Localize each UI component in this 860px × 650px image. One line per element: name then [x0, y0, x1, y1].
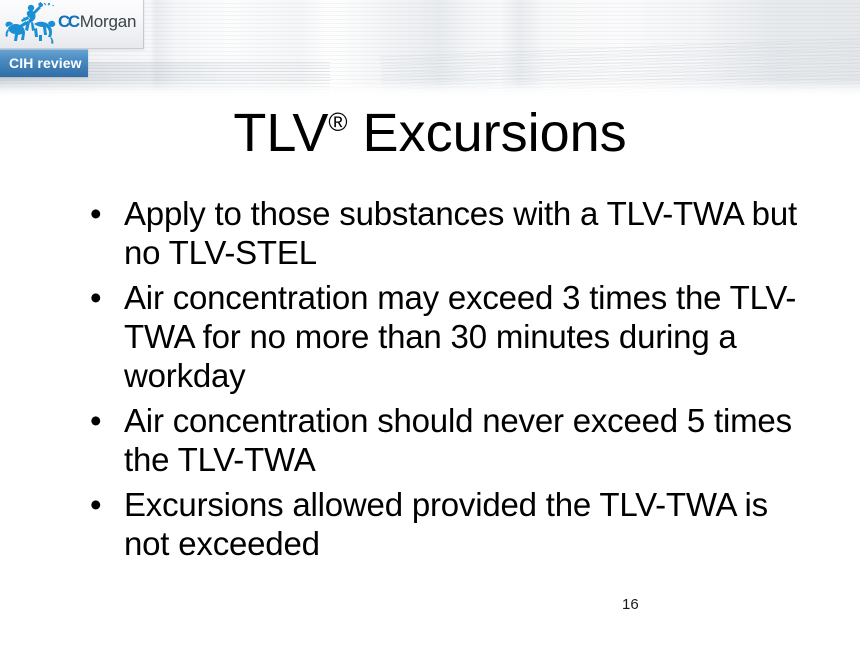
bullet-list: • Apply to those substances with a TLV-T… [86, 194, 816, 569]
registered-trademark-symbol: ® [328, 107, 347, 137]
logo-wordmark-cc: CC [58, 12, 78, 31]
section-tab-cih-review[interactable]: CIH review [0, 49, 88, 77]
bullet-text: Excursions allowed provided the TLV-TWA … [124, 485, 816, 563]
slide-canvas: CCMorgan CIH review TLV® Excursions • Ap… [0, 0, 860, 650]
list-item: • Apply to those substances with a TLV-T… [86, 194, 816, 272]
bullet-marker: • [86, 194, 124, 233]
logo-wordmark-morgan: Morgan [80, 12, 136, 31]
list-item: • Air concentration may exceed 3 times t… [86, 278, 816, 395]
page-title-main: TLV [233, 103, 328, 163]
page-title-rest: Excursions [348, 103, 627, 163]
rider-and-lions-emblem-icon [4, 2, 56, 46]
bullet-text: Apply to those substances with a TLV-TWA… [124, 194, 816, 272]
list-item: • Excursions allowed provided the TLV-TW… [86, 485, 816, 563]
logo-plaque: CCMorgan [0, 0, 144, 49]
bullet-marker: • [86, 485, 124, 524]
bullet-text: Air concentration should never exceed 5 … [124, 401, 816, 479]
list-item: • Air concentration should never exceed … [86, 401, 816, 479]
bullet-marker: • [86, 278, 124, 317]
logo-wordmark: CCMorgan [58, 13, 136, 30]
section-tab-label: CIH review [9, 54, 82, 72]
bullet-marker: • [86, 401, 124, 440]
page-number: 16 [622, 596, 639, 614]
bullet-text: Air concentration may exceed 3 times the… [124, 278, 816, 395]
page-title: TLV® Excursions [0, 92, 860, 163]
